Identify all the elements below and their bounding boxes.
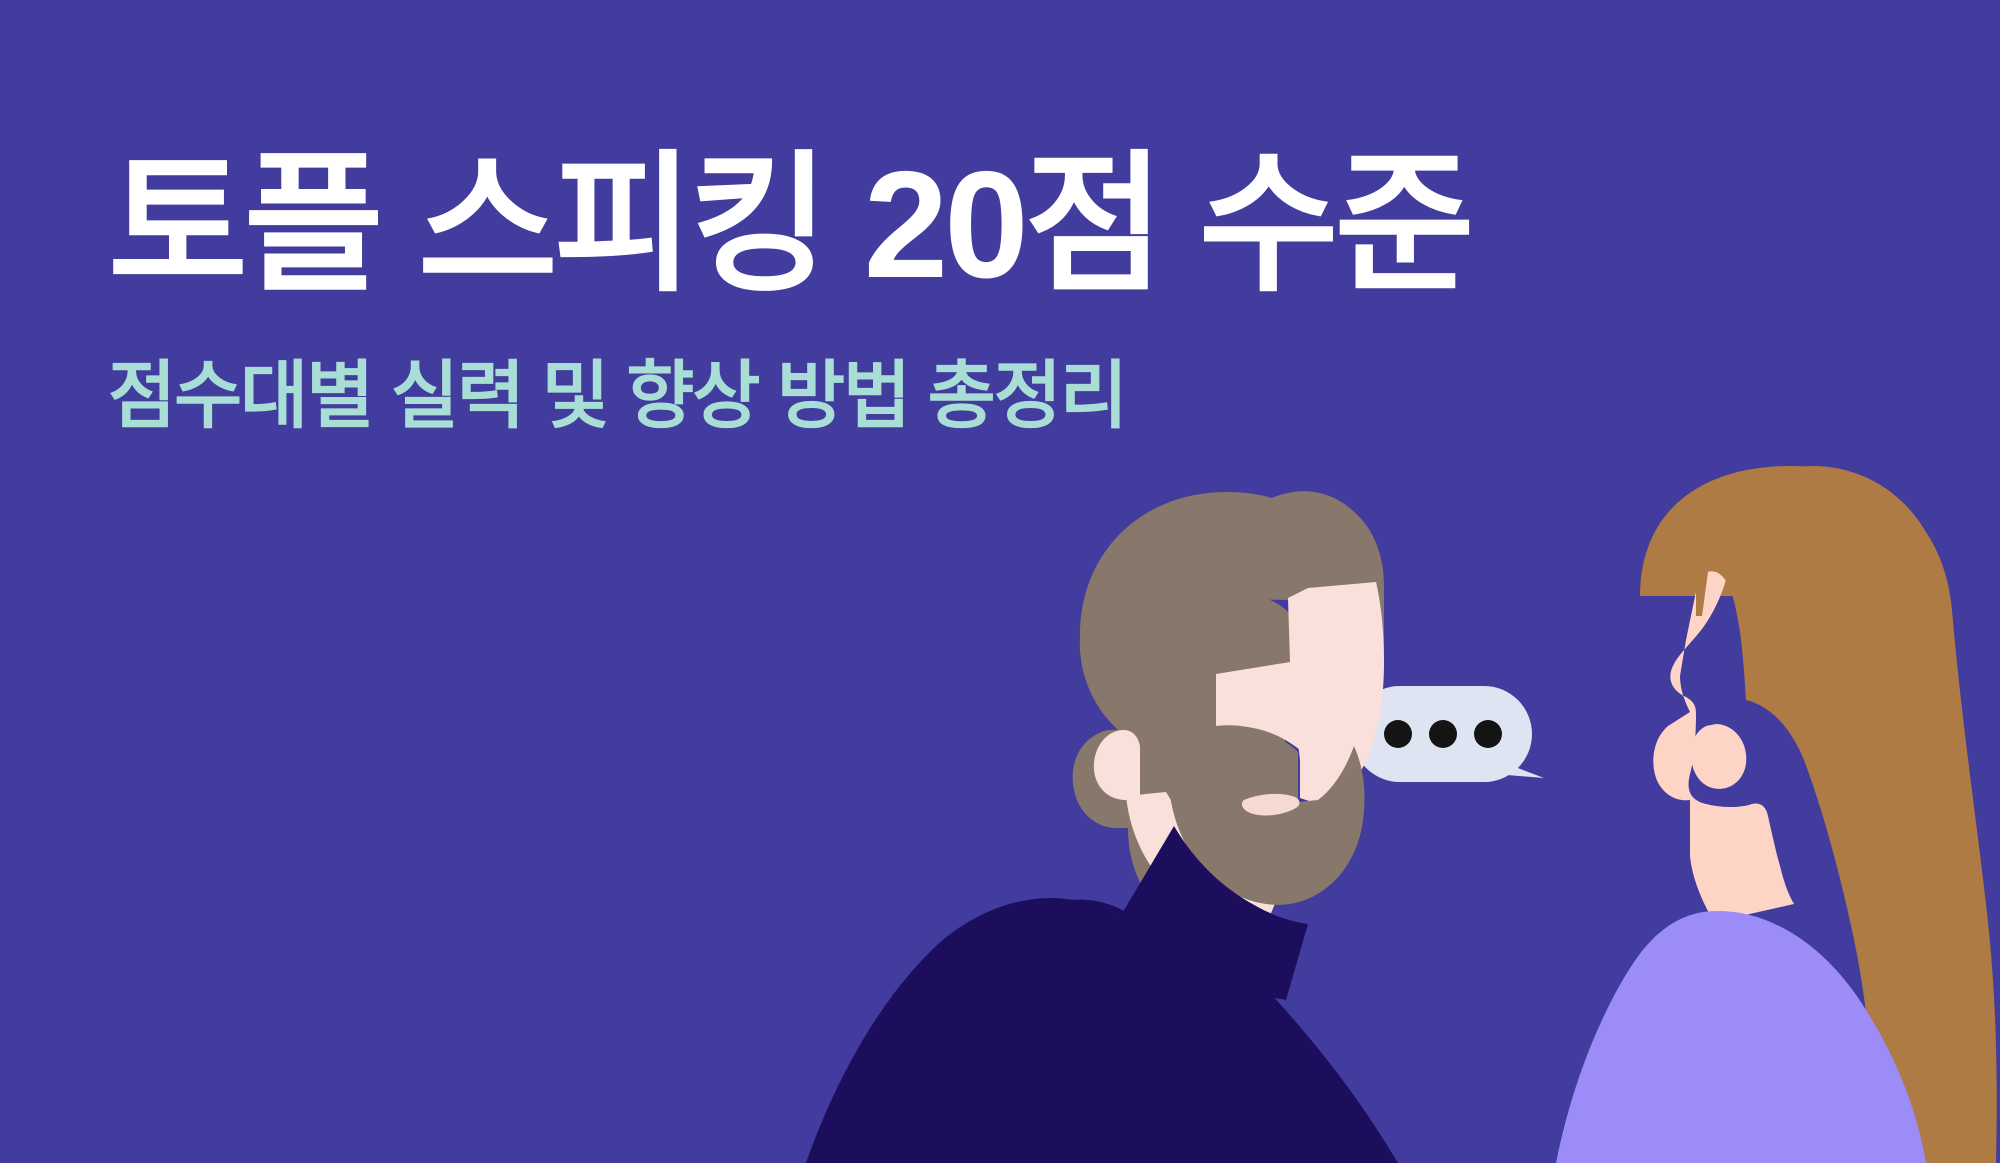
thumbnail-canvas: 토플 스피킹 20점 수준 점수대별 실력 및 향상 방법 총정리 xyxy=(0,0,2000,1163)
speech-dot-1 xyxy=(1384,720,1412,748)
text-block: 토플 스피킹 20점 수준 점수대별 실력 및 향상 방법 총정리 xyxy=(108,140,1608,441)
page-subtitle: 점수대별 실력 및 향상 방법 총정리 xyxy=(108,352,1608,441)
speech-dot-2 xyxy=(1429,720,1457,748)
page-title: 토플 스피킹 20점 수준 xyxy=(108,140,1608,310)
speech-dot-3 xyxy=(1474,720,1502,748)
